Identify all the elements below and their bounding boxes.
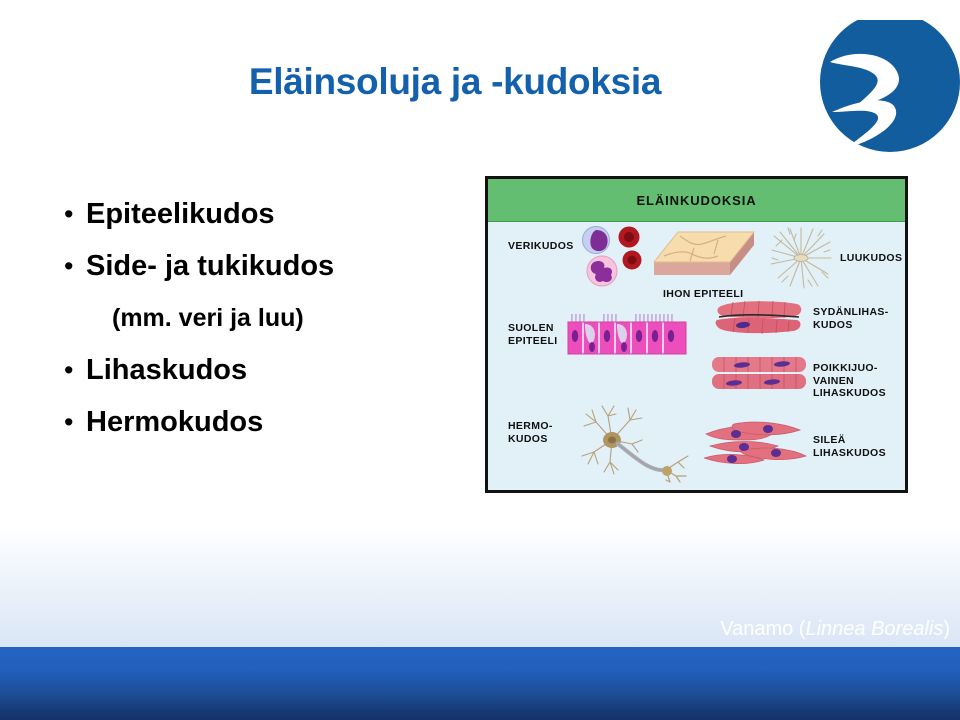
figure-header: ELÄINKUDOKSIA xyxy=(488,179,905,222)
list-item-sub: (mm. veri ja luu) xyxy=(64,296,484,340)
list-item: • Lihaskudos xyxy=(64,348,484,392)
smooth-muscle-illustration xyxy=(704,420,808,466)
cardiac-muscle-illustration xyxy=(713,300,805,336)
footer-credit-species: Linnea Borealis xyxy=(805,618,943,640)
figure-label-luukudos: LUUKUDOS xyxy=(840,252,902,265)
list-item-sublabel: (mm. veri ja luu) xyxy=(112,296,304,340)
figure-label-ihon-epiteeli: IHON EPITEELI xyxy=(663,288,743,301)
list-item: • Hermokudos xyxy=(64,400,484,444)
list-item-label: Hermokudos xyxy=(86,400,263,444)
list-item-label: Lihaskudos xyxy=(86,348,247,392)
figure-body: VERIKUDOS IHON EPITEELI xyxy=(488,222,905,493)
tissues-figure: ELÄINKUDOKSIA VERIKUDOS xyxy=(485,176,908,493)
indent-spacer xyxy=(64,296,112,340)
figure-label-silea-lihaskudos: SILEÄ LIHASKUDOS xyxy=(813,434,886,459)
bone-tissue-illustration xyxy=(768,226,834,290)
bullet-list: • Epiteelikudos • Side- ja tukikudos (mm… xyxy=(64,192,484,452)
nerve-tissue-illustration xyxy=(578,404,696,484)
list-item-label: Side- ja tukikudos xyxy=(86,244,334,288)
bullet-marker: • xyxy=(64,244,86,288)
list-item-label: Epiteelikudos xyxy=(86,192,275,236)
figure-label-hermokudos: HERMO- KUDOS xyxy=(508,420,553,445)
blood-cells-illustration xyxy=(576,224,650,290)
skeletal-muscle-illustration xyxy=(710,356,808,390)
bullet-marker: • xyxy=(64,192,86,236)
footer-credit-suffix: ) xyxy=(943,618,950,640)
figure-label-sydanlihaskudos: SYDÄNLIHAS- KUDOS xyxy=(813,306,889,331)
skin-epithelium-illustration xyxy=(650,228,758,286)
slide: Eläinsoluja ja -kudoksia • Epiteelikudos… xyxy=(0,0,960,720)
figure-label-poikkijuovainen-lihaskudos: POIKKIJUO- VAINEN LIHASKUDOS xyxy=(813,362,886,400)
page-title: Eläinsoluja ja -kudoksia xyxy=(60,62,850,103)
bullet-marker: • xyxy=(64,400,86,444)
figure-header-title: ELÄINKUDOKSIA xyxy=(636,193,756,208)
figure-label-suolen-epiteeli: SUOLEN EPITEELI xyxy=(508,322,557,347)
list-item: • Side- ja tukikudos xyxy=(64,244,484,288)
bottom-blue-bar xyxy=(0,647,960,720)
list-item: • Epiteelikudos xyxy=(64,192,484,236)
figure-label-verikudos: VERIKUDOS xyxy=(508,240,574,253)
footer-credit-prefix: Vanamo ( xyxy=(720,618,805,640)
footer-credit: Vanamo (Linnea Borealis) xyxy=(600,618,950,641)
intestinal-epithelium-illustration xyxy=(566,314,690,356)
bullet-marker: • xyxy=(64,348,86,392)
